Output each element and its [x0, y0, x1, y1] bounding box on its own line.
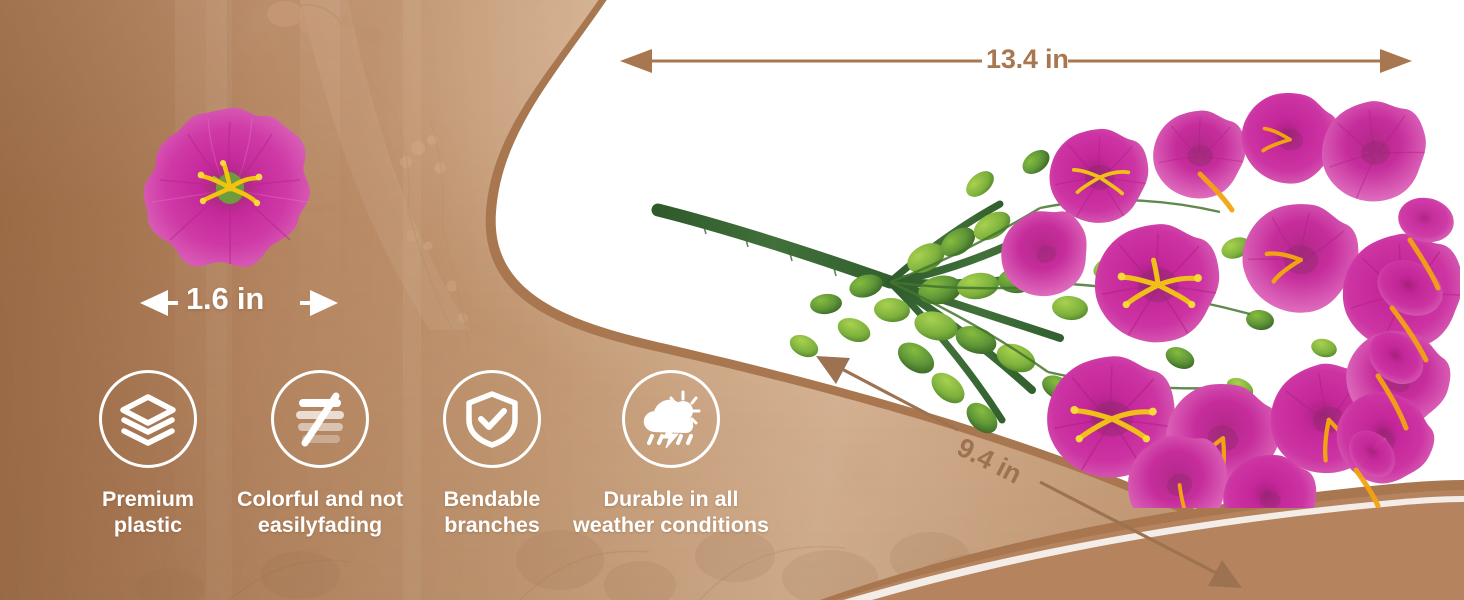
- feature-icon-ring: [622, 370, 720, 468]
- feature-label-line1: Durable in all: [603, 487, 738, 511]
- feature-item-premium-plastic: Premium plastic: [72, 370, 224, 538]
- feature-label-line2: easilyfading: [258, 513, 382, 537]
- petal-dimension-label: 1.6 in: [186, 281, 264, 317]
- feature-label: Durable in all weather conditions: [573, 486, 769, 538]
- feature-label-line1: Premium: [102, 487, 194, 511]
- feature-item-colorfast: Colorful and not easilyfading: [224, 370, 416, 538]
- feature-label-line2: weather conditions: [573, 513, 769, 537]
- width-dimension-label: 13.4 in: [986, 44, 1069, 75]
- layers-icon: [119, 390, 177, 448]
- feature-label-line1: Bendable: [444, 487, 541, 511]
- feature-icon-ring: [443, 370, 541, 468]
- no-fade-icon: [291, 390, 349, 448]
- product-infographic: 13.4 in 9.4 in 1.6 in Premium plastic: [0, 0, 1464, 600]
- feature-icon-ring: [271, 370, 369, 468]
- feature-label: Premium plastic: [102, 486, 194, 538]
- shield-check-icon: [463, 390, 521, 448]
- feature-item-weatherproof: Durable in all weather conditions: [568, 370, 774, 538]
- feature-list: Premium plastic Colorful and not easilyf…: [72, 370, 812, 538]
- feature-label-line1: Colorful and not: [237, 487, 403, 511]
- feature-item-bendable: Bendable branches: [416, 370, 568, 538]
- feature-label-line2: plastic: [114, 513, 182, 537]
- feature-label: Colorful and not easilyfading: [237, 486, 403, 538]
- feature-label-line2: branches: [444, 513, 540, 537]
- weather-icon: [641, 390, 701, 448]
- feature-label: Bendable branches: [444, 486, 541, 538]
- depth-dimension-arrow: [816, 356, 1242, 588]
- feature-icon-ring: [99, 370, 197, 468]
